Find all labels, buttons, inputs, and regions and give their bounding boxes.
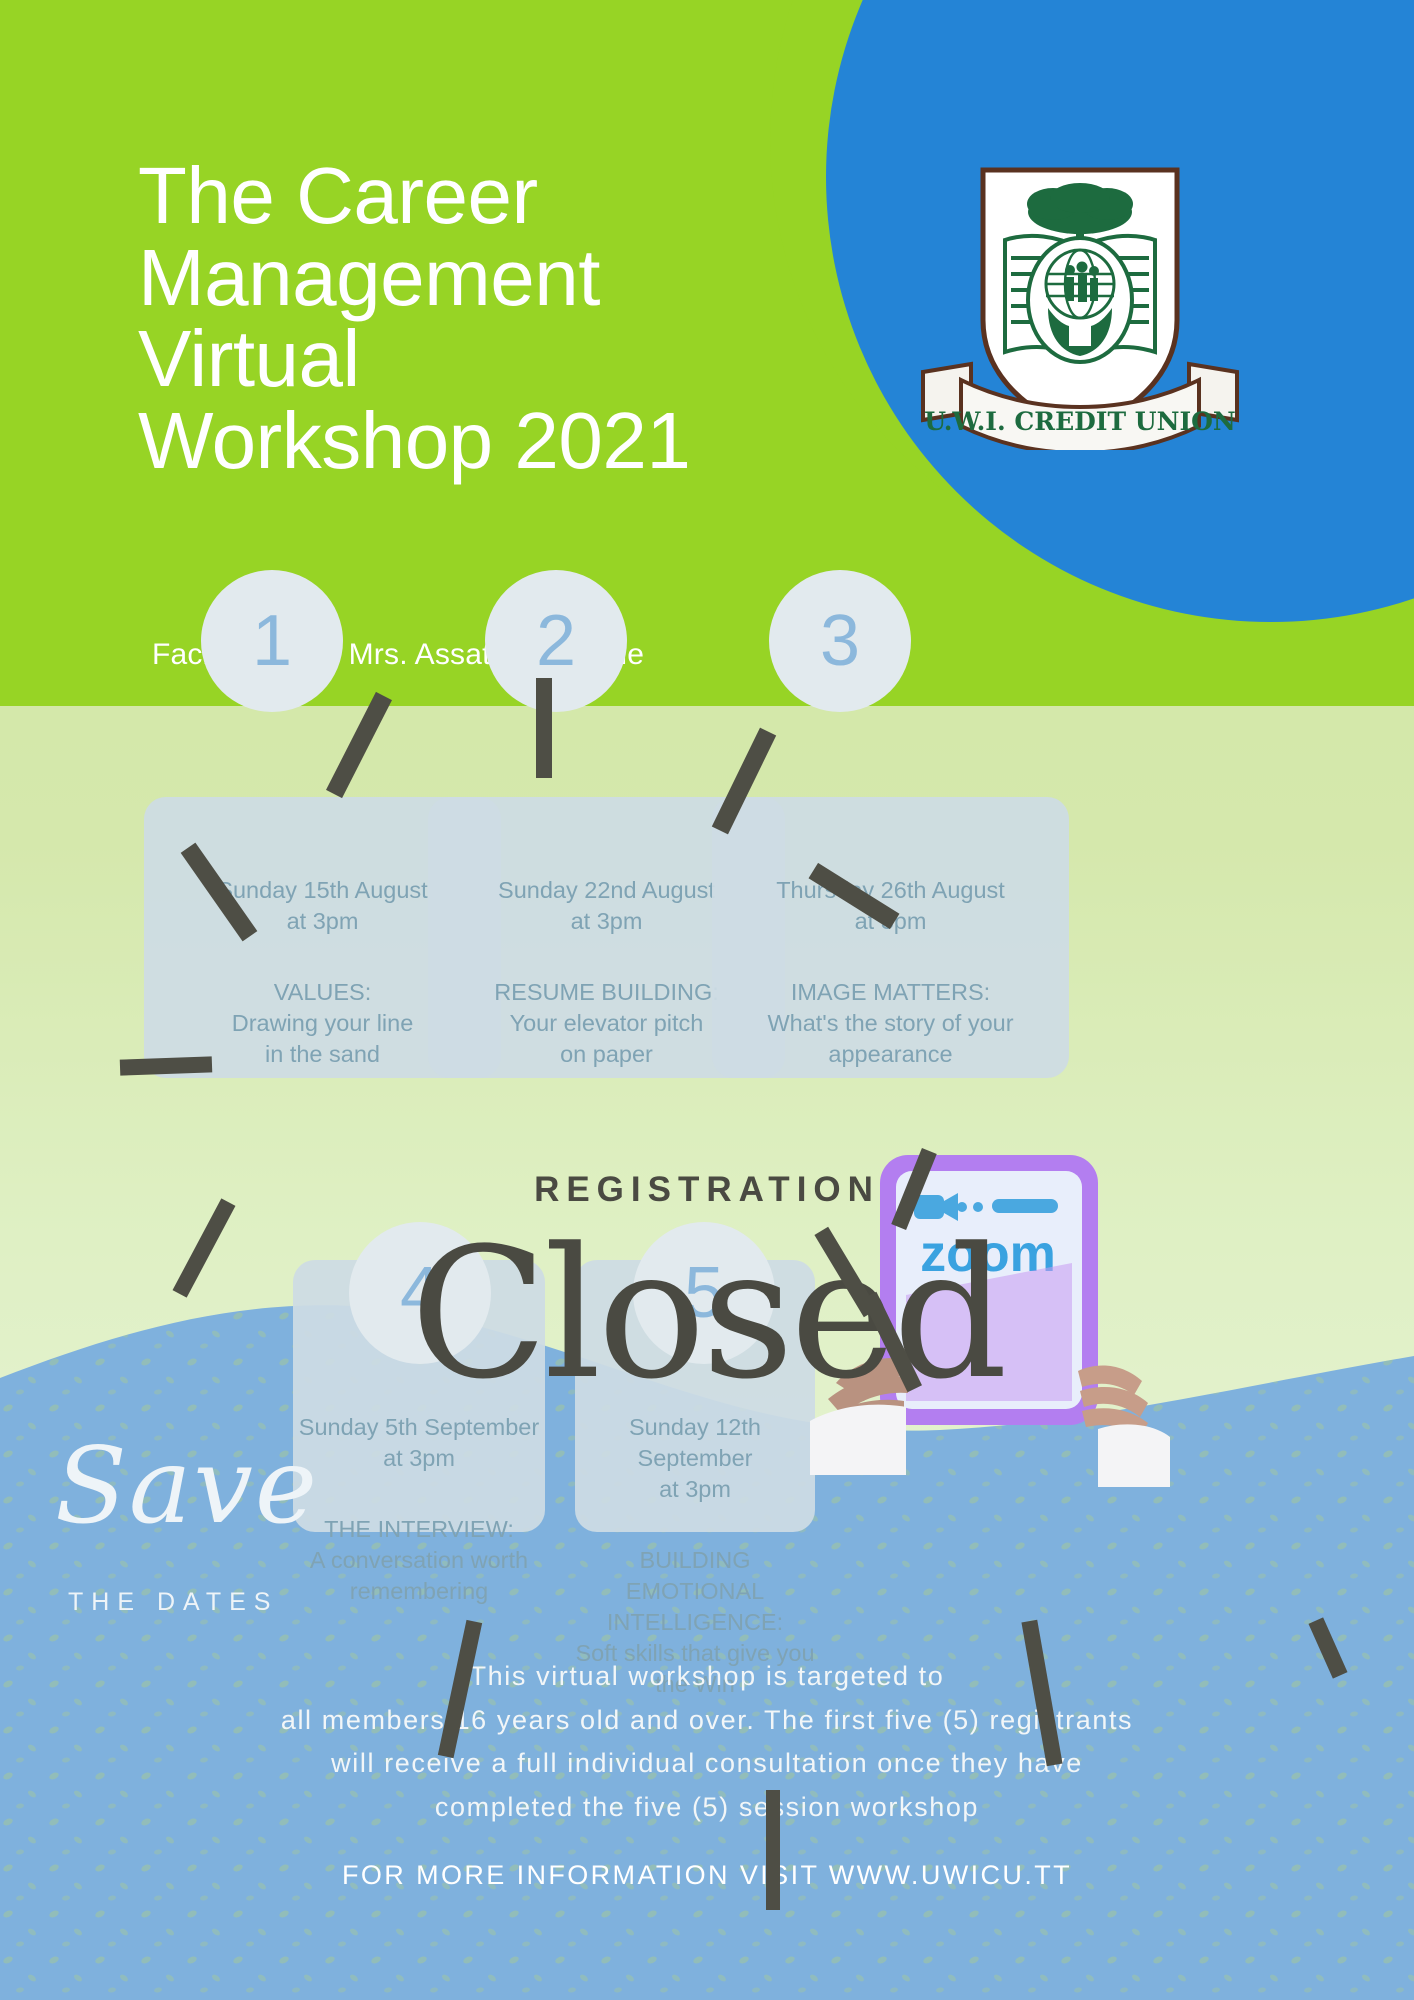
decorative-slash-mark [326,692,392,798]
session-number-badge: 3 [769,570,911,712]
decorative-slash-mark [120,1056,213,1075]
body-description: This virtual workshop is targeted to all… [107,1655,1307,1830]
decorative-slash-mark [536,678,552,778]
uwi-credit-union-logo: U.W.I. CREDIT UNION [905,140,1255,450]
session-topic: IMAGE MATTERS: What's the story of your … [712,977,1069,1070]
session-number-badge: 1 [201,570,343,712]
page-title: The Career Management Virtual Workshop 2… [138,155,898,481]
registration-label: REGISTRATION [0,1170,1414,1210]
poster-canvas: The Career Management Virtual Workshop 2… [0,0,1414,2000]
decorative-slash-mark [766,1790,780,1910]
session-card: Thursday 26th August at 3pm IMAGE MATTER… [712,797,1069,1078]
closed-stamp: Closed [0,1225,1414,1405]
save-the-dates-sub: THE DATES [68,1588,278,1617]
footer-url: FOR MORE INFORMATION VISIT WWW.UWICU.TT [107,1860,1307,1891]
session-topic: THE INTERVIEW: A conversation worth reme… [293,1514,545,1607]
session-number-badge: 2 [485,570,627,712]
logo-ribbon-text: U.W.I. CREDIT UNION [924,407,1236,436]
save-the-dates-script: Save [55,1425,319,1547]
